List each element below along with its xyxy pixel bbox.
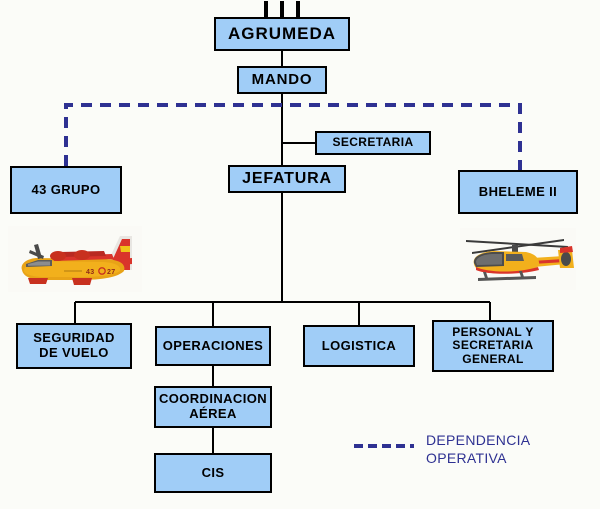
legend: DEPENDENCIA OPERATIVA — [353, 432, 530, 467]
node-bheleme-ii-label: BHELEME II — [479, 185, 557, 200]
node-personal-line-1: PERSONAL Y — [452, 325, 534, 339]
node-personal-label: PERSONAL Y SECRETARIA GENERAL — [452, 326, 534, 366]
node-agrumeda-label: AGRUMEDA — [228, 24, 336, 43]
node-personal-line-3: GENERAL — [462, 352, 523, 366]
link-dependencia-operativa — [66, 105, 520, 170]
node-jefatura-label: JEFATURA — [242, 170, 332, 188]
legend-label: DEPENDENCIA OPERATIVA — [426, 432, 530, 467]
node-coordinacion-line-2: AÉREA — [189, 406, 237, 421]
canadair-cl215-waterbomber-photo: 43 27 — [8, 226, 142, 292]
node-operaciones[interactable]: OPERACIONES — [155, 326, 271, 366]
node-secretaria-label: SECRETARIA — [332, 136, 413, 149]
dashed-line-swatch — [353, 442, 415, 450]
antenna-mast-icon-1 — [264, 1, 268, 17]
antenna-mast-icon-3 — [296, 1, 300, 17]
node-operaciones-label: OPERACIONES — [163, 339, 263, 354]
node-coordinacion-aerea-label: COORDINACION AÉREA — [159, 392, 267, 421]
node-mando-label: MANDO — [252, 72, 313, 89]
node-personal-line-2: SECRETARIA — [452, 338, 533, 352]
node-seguridad-de-vuelo[interactable]: SEGURIDAD DE VUELO — [16, 323, 132, 369]
node-seguridad-de-vuelo-label: SEGURIDAD DE VUELO — [33, 331, 115, 360]
node-43-grupo[interactable]: 43 GRUPO — [10, 166, 122, 214]
node-cis[interactable]: CIS — [154, 453, 272, 493]
node-secretaria[interactable]: SECRETARIA — [315, 131, 431, 155]
antenna-mast-icon-2 — [280, 1, 284, 17]
node-bheleme-ii[interactable]: BHELEME II — [458, 170, 578, 214]
node-43-grupo-label: 43 GRUPO — [32, 183, 101, 198]
svg-text:27: 27 — [107, 269, 115, 276]
node-personal-y-secretaria-general[interactable]: PERSONAL Y SECRETARIA GENERAL — [432, 320, 554, 372]
org-chart: AGRUMEDA MANDO SECRETARIA JEFATURA 43 GR… — [0, 0, 600, 509]
node-logistica[interactable]: LOGISTICA — [303, 325, 415, 367]
legend-line-1: DEPENDENCIA — [426, 432, 530, 448]
node-logistica-label: LOGISTICA — [322, 339, 396, 354]
node-coordinacion-aerea[interactable]: COORDINACION AÉREA — [154, 386, 272, 428]
node-agrumeda[interactable]: AGRUMEDA — [214, 17, 350, 51]
node-seguridad-line-1: SEGURIDAD — [33, 330, 115, 345]
eurocopter-ec135-helicopter-photo — [460, 228, 576, 290]
node-mando[interactable]: MANDO — [237, 66, 327, 94]
svg-text:43: 43 — [86, 269, 94, 276]
node-coordinacion-line-1: COORDINACION — [159, 391, 267, 406]
legend-line-2: OPERATIVA — [426, 450, 507, 466]
node-cis-label: CIS — [202, 466, 225, 481]
node-seguridad-line-2: DE VUELO — [39, 345, 109, 360]
node-jefatura[interactable]: JEFATURA — [228, 165, 346, 193]
